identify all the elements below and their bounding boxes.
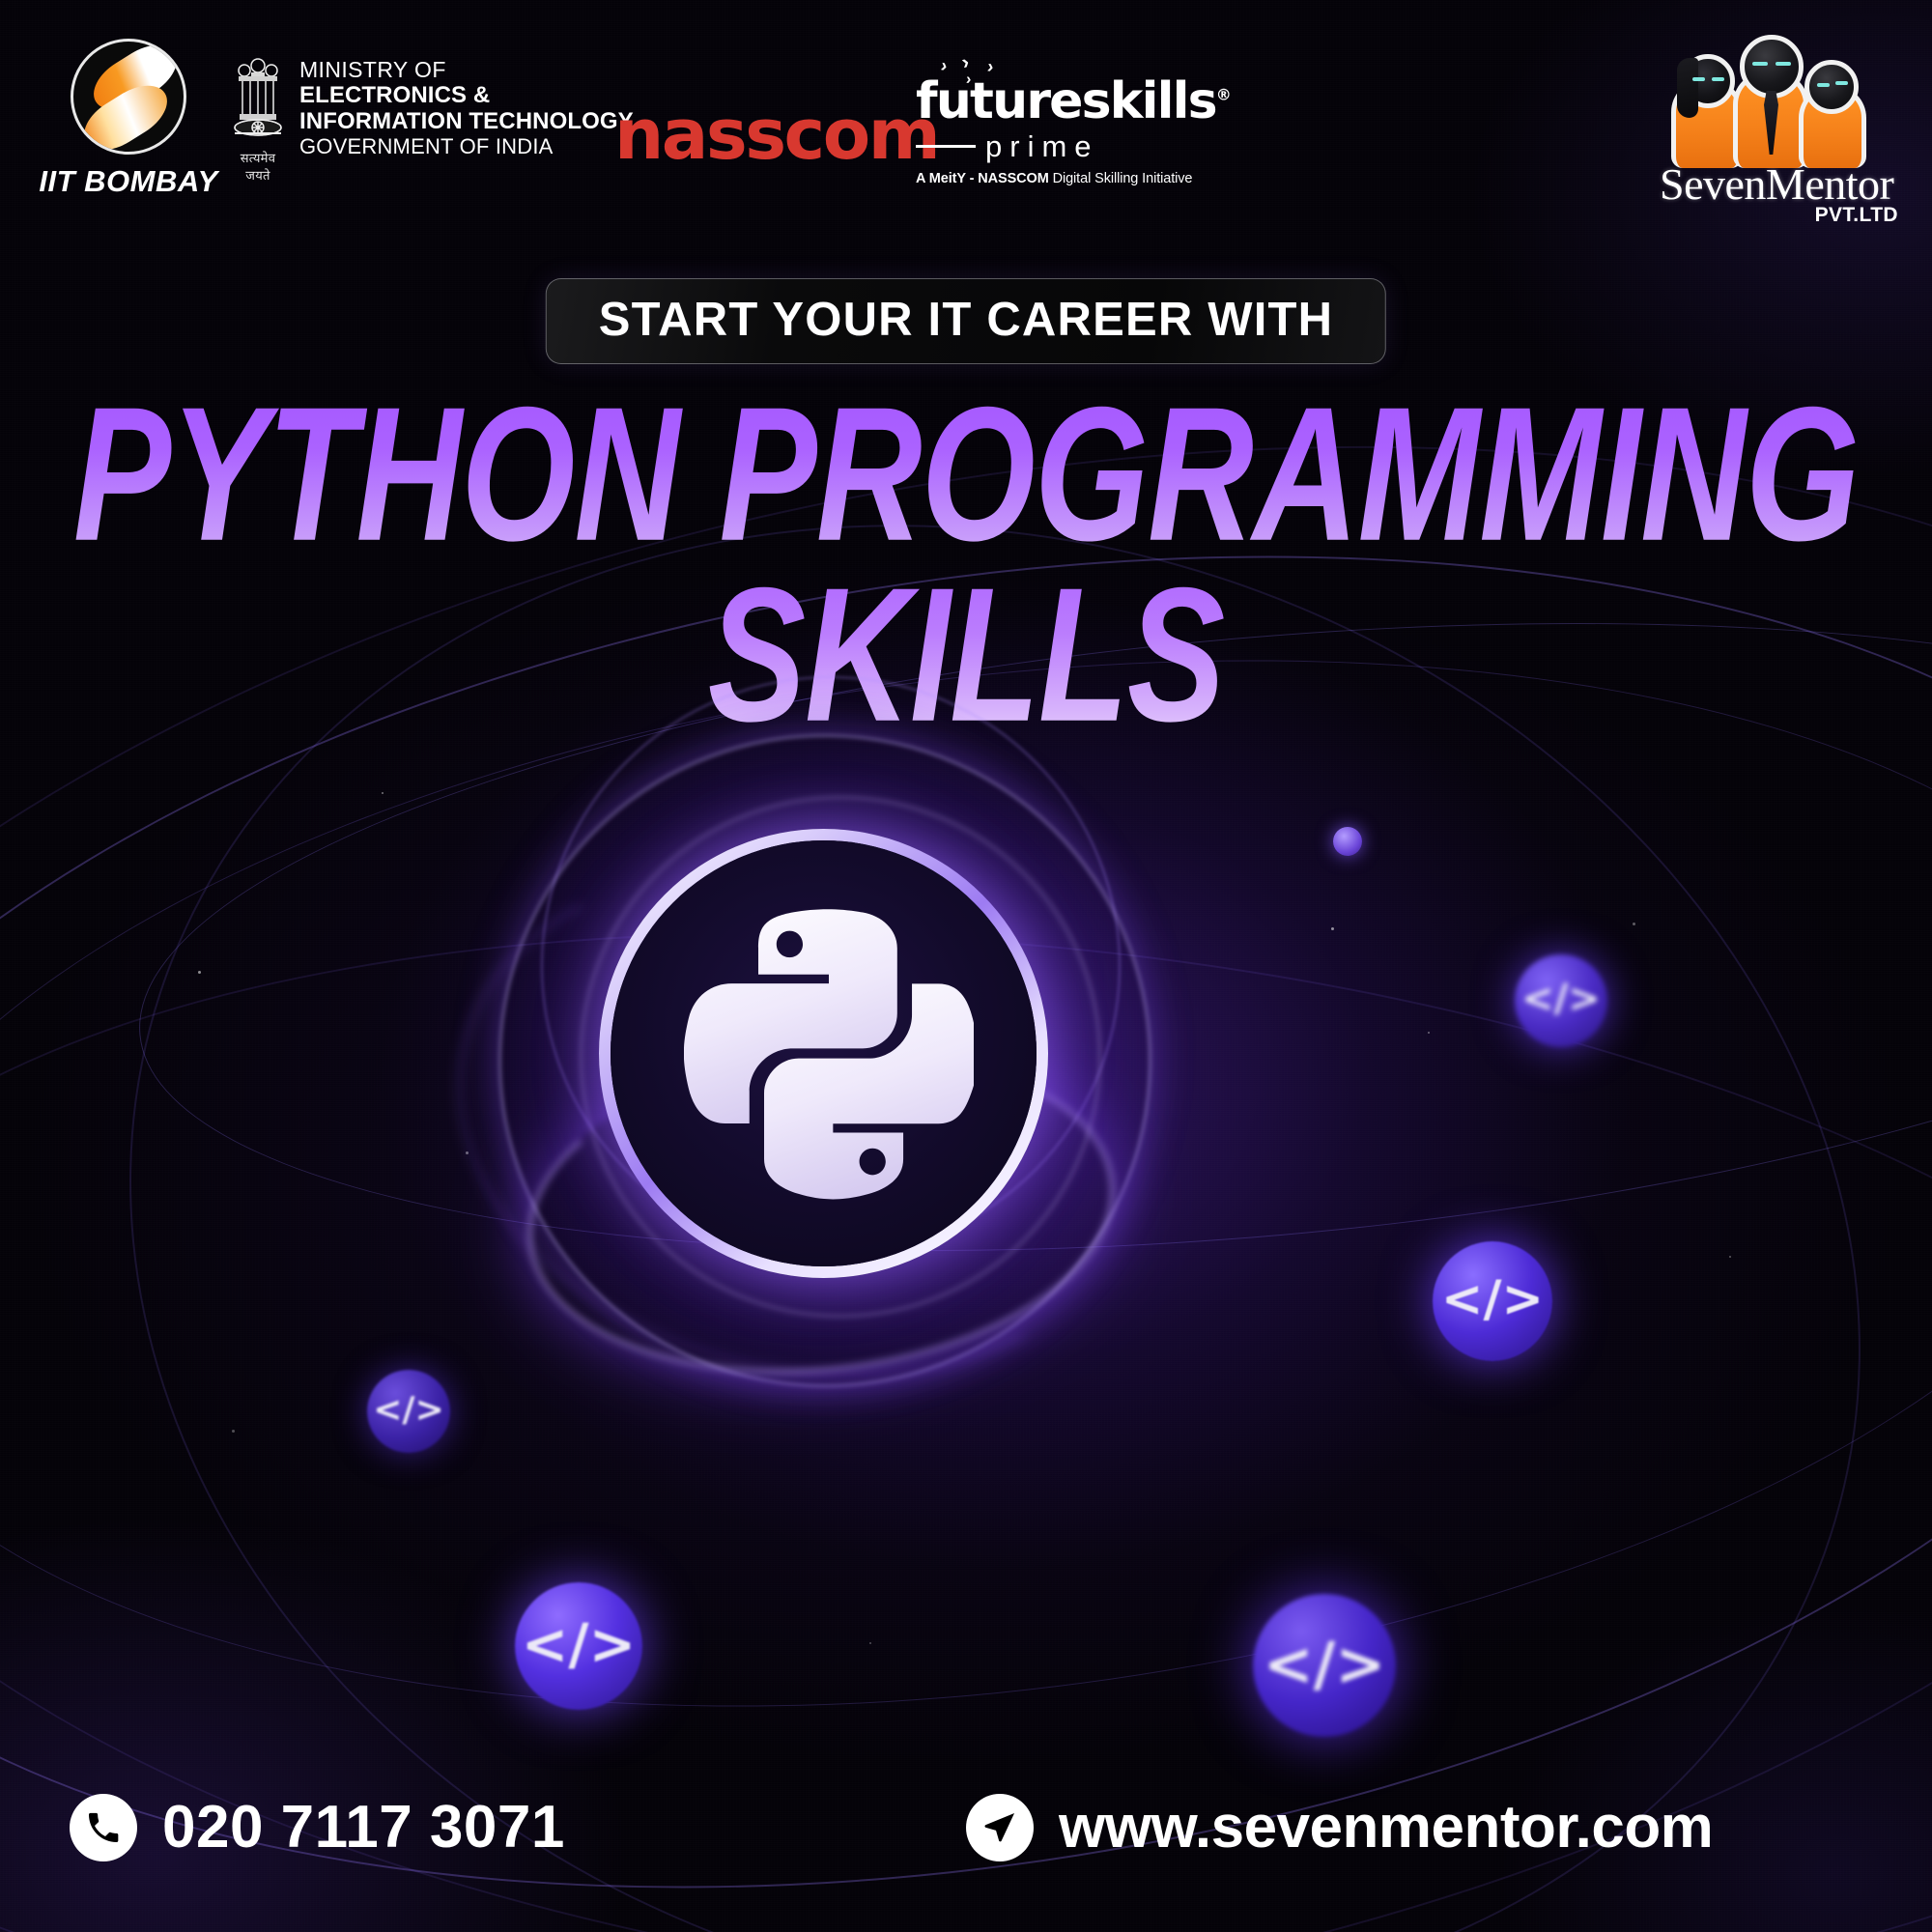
kicker-text: START YOUR IT CAREER WITH bbox=[599, 294, 1333, 346]
star-speck bbox=[1331, 927, 1334, 930]
futureskills-prime-logo: › › › › futureskills® prime A MeitY - NA… bbox=[916, 58, 1177, 186]
star-speck bbox=[1428, 1032, 1430, 1034]
ministry-line-4: GOVERNMENT OF INDIA bbox=[299, 135, 634, 159]
code-glyph: </> bbox=[1441, 1270, 1544, 1328]
ministry-line-2: ELECTRONICS & bbox=[299, 83, 634, 109]
ashoka-emblem-icon: सत्यमेव जयते bbox=[228, 54, 288, 184]
star-speck bbox=[198, 971, 201, 974]
prime-rule bbox=[916, 145, 976, 148]
footer-contact-bar: 020 7117 3071 www.sevenmentor.com bbox=[0, 1785, 1932, 1891]
tagline-bold: A MeitY - NASSCOM bbox=[916, 171, 1049, 186]
futureskills-wordmark: futureskills® bbox=[916, 79, 1177, 126]
star-speck bbox=[382, 792, 384, 794]
partner-logo-bar: IIT BOMBAY सत्यमेव bbox=[0, 0, 1932, 222]
python-logo-icon bbox=[684, 906, 974, 1201]
kicker-badge: START YOUR IT CAREER WITH bbox=[546, 278, 1386, 364]
code-bubble-left-large: </> bbox=[515, 1582, 642, 1710]
send-plane-icon bbox=[966, 1794, 1034, 1861]
futureskills-tagline: A MeitY - NASSCOM Digital Skilling Initi… bbox=[916, 171, 1177, 186]
python-hero-disc bbox=[599, 829, 1048, 1278]
nasscom-logo: nasscom bbox=[614, 94, 938, 175]
emblem-motto: सत्यमेव जयते bbox=[228, 149, 288, 184]
poster-canvas: IIT BOMBAY सत्यमेव bbox=[0, 0, 1932, 1932]
star-speck bbox=[232, 1430, 235, 1433]
ministry-line-1: MINISTRY OF bbox=[299, 58, 634, 83]
star-speck bbox=[1729, 1256, 1731, 1258]
iit-bombay-logo-icon bbox=[71, 39, 186, 155]
phone-icon bbox=[70, 1794, 137, 1861]
phone-number: 020 7117 3071 bbox=[162, 1793, 565, 1861]
iit-bombay-logo: IIT BOMBAY bbox=[37, 39, 220, 199]
code-bubble-right-mid: </> bbox=[1433, 1241, 1552, 1361]
star-speck bbox=[1633, 923, 1635, 925]
code-glyph: </> bbox=[373, 1390, 443, 1430]
ministry-line-3: INFORMATION TECHNOLOGY bbox=[299, 109, 634, 135]
orbit-dot bbox=[1333, 827, 1362, 856]
website-url: www.sevenmentor.com bbox=[1059, 1793, 1713, 1861]
phone-contact[interactable]: 020 7117 3071 bbox=[70, 1793, 565, 1861]
tagline-rest: Digital Skilling Initiative bbox=[1049, 171, 1193, 186]
code-bubble-bottom-right: </> bbox=[1253, 1594, 1396, 1737]
iit-bombay-label: IIT BOMBAY bbox=[37, 164, 220, 199]
futureskills-name: futureskills bbox=[916, 72, 1216, 130]
sevenmentor-logo: SevenMentor PVT.LTD bbox=[1660, 21, 1906, 227]
code-glyph: </> bbox=[1521, 977, 1601, 1021]
ministry-logo: सत्यमेव जयते MINISTRY OF ELECTRONICS & I… bbox=[228, 54, 634, 184]
website-contact[interactable]: www.sevenmentor.com bbox=[966, 1793, 1713, 1861]
ministry-text-block: MINISTRY OF ELECTRONICS & INFORMATION TE… bbox=[299, 58, 634, 158]
sevenmentor-three-people-icon bbox=[1660, 21, 1906, 164]
code-bubble-left-small: </> bbox=[367, 1370, 450, 1453]
code-glyph: </> bbox=[522, 1611, 636, 1677]
prime-label: prime bbox=[985, 129, 1099, 164]
star-speck bbox=[869, 1642, 871, 1644]
registered-mark: ® bbox=[1216, 86, 1232, 104]
code-glyph: </> bbox=[1264, 1629, 1386, 1699]
code-bubble-right-upper: </> bbox=[1515, 954, 1607, 1047]
